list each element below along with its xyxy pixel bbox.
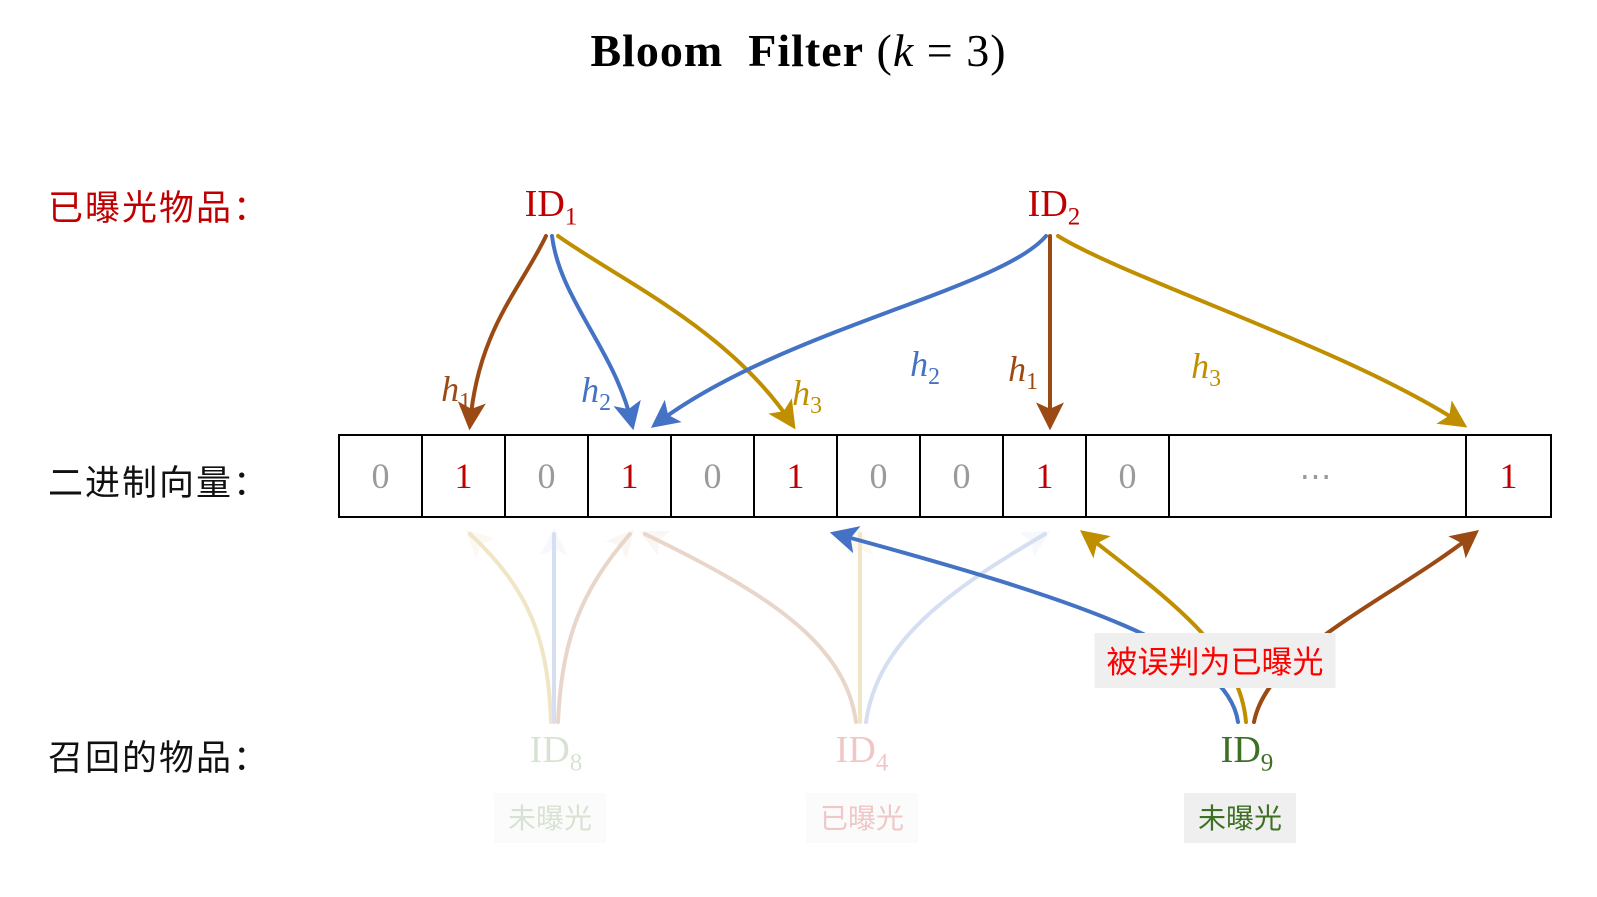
- vector-cell[interactable]: 0: [838, 436, 921, 516]
- status-badge-id9: 未曝光: [1184, 793, 1296, 843]
- hash-label-id1-h2: h2: [581, 369, 611, 417]
- id-text: ID: [525, 183, 565, 225]
- hash-index: 1: [1026, 369, 1038, 395]
- hash-label-id1-h3: h3: [792, 372, 822, 420]
- misjudged-annotation: 被误判为已曝光: [1095, 633, 1336, 688]
- vector-cell[interactable]: 1: [423, 436, 506, 516]
- hash-label-id2-h3: h3: [1191, 345, 1221, 393]
- arrow-id8-h1: [558, 534, 630, 722]
- id-subscript: 9: [1261, 750, 1274, 777]
- title-main: Bloom Filter: [590, 25, 864, 76]
- arrow-id4-h2: [866, 534, 1045, 722]
- binary-vector-label: 二进制向量：: [48, 455, 270, 506]
- recalled-items-label: 召回的物品：: [48, 730, 270, 781]
- title-param-value: 3: [966, 25, 990, 76]
- vector-cell[interactable]: 0: [1087, 436, 1170, 516]
- status-badge-id8: 未曝光: [494, 793, 606, 843]
- vector-cell[interactable]: 0: [672, 436, 755, 516]
- hash-label-id2-h2: h2: [910, 343, 940, 391]
- vector-cell[interactable]: 1: [755, 436, 838, 516]
- arrow-id2-h3: [1058, 236, 1462, 424]
- page-title: Bloom Filter (k = 3): [0, 24, 1597, 77]
- hash-name: h: [1008, 349, 1026, 389]
- id-subscript: 4: [876, 750, 889, 777]
- arrow-id9-h1: [1254, 534, 1474, 722]
- hash-label-id2-h1: h1: [1008, 348, 1038, 396]
- hash-name: h: [581, 370, 599, 410]
- id-subscript: 8: [570, 750, 583, 777]
- id-text: ID: [1028, 183, 1068, 225]
- arrow-id1-h1: [470, 236, 546, 424]
- diagram-canvas: Bloom Filter (k = 3) 已曝光物品： 二进制向量： 召回的物品…: [0, 0, 1597, 897]
- hash-index: 2: [928, 364, 940, 390]
- vector-cell[interactable]: 0: [921, 436, 1004, 516]
- vector-cell[interactable]: 1: [589, 436, 672, 516]
- exposed-id-2[interactable]: ID2: [1028, 182, 1081, 232]
- hash-name: h: [441, 369, 459, 409]
- title-paren-open: (: [877, 25, 893, 76]
- vector-cell[interactable]: 0: [506, 436, 589, 516]
- hash-label-id1-h1: h1: [441, 368, 471, 416]
- hash-index: 1: [459, 389, 471, 415]
- binary-vector: 0 1 0 1 0 1 0 0 1 0 ⋯ 1: [338, 434, 1552, 518]
- title-param-eq: =: [914, 25, 966, 76]
- title-param-var: k: [893, 25, 914, 76]
- recalled-id-4[interactable]: ID4: [836, 728, 889, 778]
- vector-cell-ellipsis: ⋯: [1170, 436, 1467, 516]
- id-text: ID: [836, 729, 876, 771]
- arrow-id2-h2: [656, 236, 1046, 424]
- hash-index: 3: [1209, 366, 1221, 392]
- vector-cell[interactable]: 0: [340, 436, 423, 516]
- hash-name: h: [792, 373, 810, 413]
- status-badge-id4: 已曝光: [806, 793, 918, 843]
- hash-index: 3: [810, 393, 822, 419]
- exposed-items-label: 已曝光物品：: [48, 180, 270, 231]
- arrow-id9-h2: [836, 534, 1238, 722]
- recalled-id-8[interactable]: ID8: [530, 728, 583, 778]
- title-paren-close: ): [990, 25, 1006, 76]
- hash-index: 2: [599, 390, 611, 416]
- exposed-id-1[interactable]: ID1: [525, 182, 578, 232]
- arrow-id4-h1: [645, 534, 856, 722]
- id-subscript: 2: [1068, 204, 1081, 231]
- arrow-id8-h3: [470, 534, 551, 722]
- hash-name: h: [1191, 346, 1209, 386]
- recalled-id-9[interactable]: ID9: [1221, 728, 1274, 778]
- id-subscript: 1: [565, 204, 578, 231]
- vector-cell[interactable]: 1: [1004, 436, 1087, 516]
- arrow-id9-h3: [1085, 534, 1246, 722]
- id-text: ID: [530, 729, 570, 771]
- id-text: ID: [1221, 729, 1261, 771]
- hash-name: h: [910, 344, 928, 384]
- vector-cell-last[interactable]: 1: [1467, 436, 1550, 516]
